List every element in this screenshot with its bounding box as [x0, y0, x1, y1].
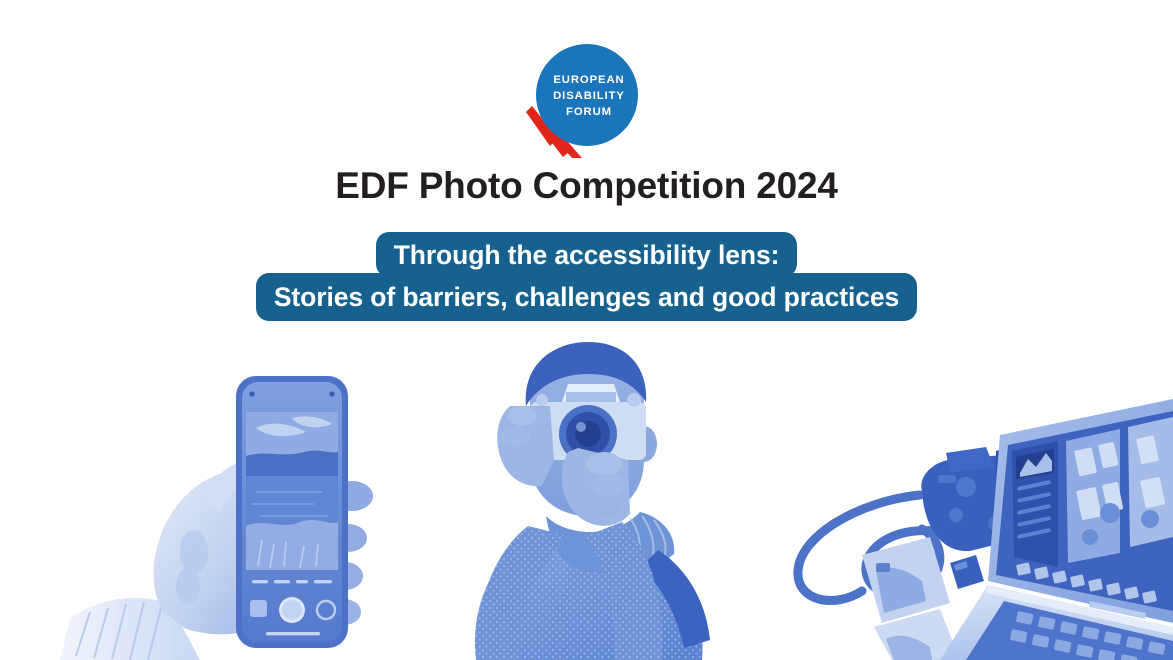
subtitle-banner: Through the accessibility lens: Stories …	[0, 232, 1173, 321]
logo-line-3: FORUM	[566, 106, 612, 118]
logo-line-2: DISABILITY	[553, 90, 625, 102]
smartphone	[236, 376, 348, 648]
gallery-thumbnail	[250, 600, 267, 617]
photo-person-with-film-camera	[418, 340, 758, 660]
photo-strip	[0, 340, 1173, 660]
printed-photos	[862, 537, 960, 660]
european-disability-forum-logo: EUROPEAN DISABILITY FORUM	[519, 38, 651, 158]
logo-line-1: EUROPEAN	[553, 74, 624, 86]
subtitle-line-1: Through the accessibility lens:	[376, 232, 798, 277]
photo-dslr-camera-and-laptop	[790, 395, 1173, 660]
subtitle-line-2: Stories of barriers, challenges and good…	[256, 273, 917, 322]
photo-hand-holding-smartphone-camera	[60, 360, 420, 660]
sd-memory-card	[950, 555, 984, 589]
poster-canvas: EUROPEAN DISABILITY FORUM EDF Photo Comp…	[0, 0, 1173, 660]
page-title: EDF Photo Competition 2024	[0, 166, 1173, 207]
